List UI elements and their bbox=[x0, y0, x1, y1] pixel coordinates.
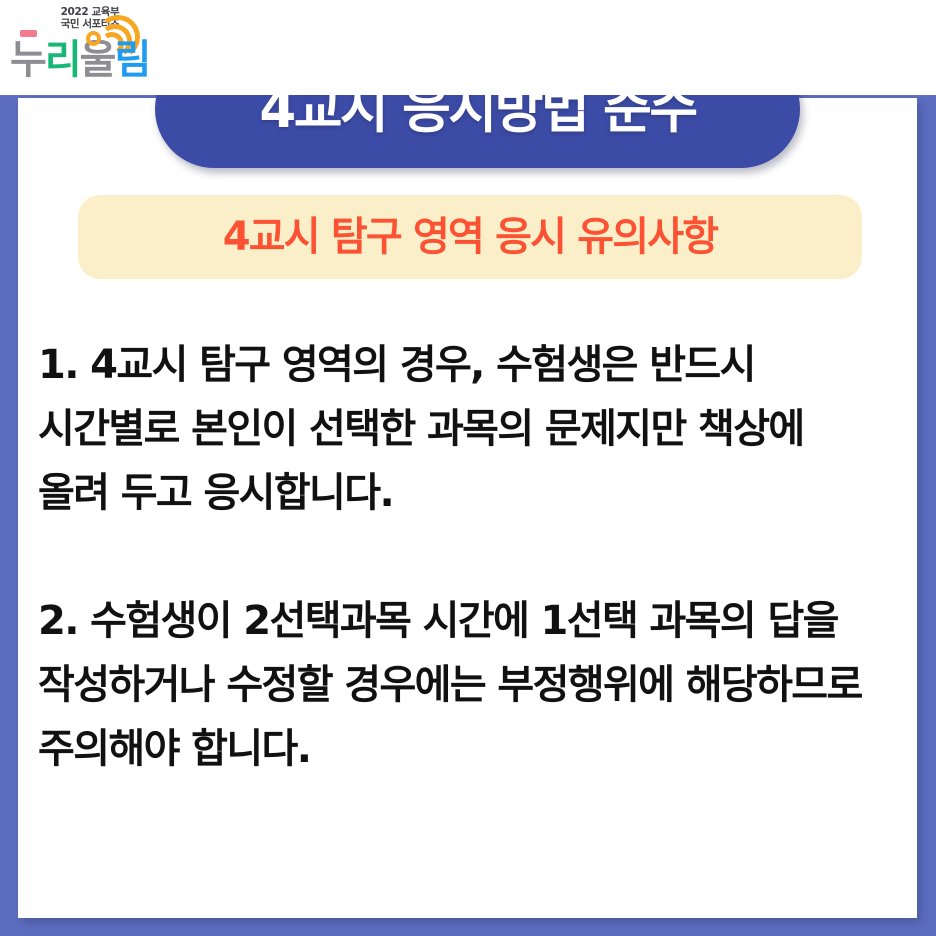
logo-pink-accent-icon bbox=[20, 30, 37, 37]
supporters-logo: 2022 교육부 국민 서포터즈 누리울림 bbox=[8, 4, 158, 90]
logo-orange-dot-icon bbox=[86, 31, 101, 46]
logo-syllable-4: 림 bbox=[114, 32, 149, 88]
info-card-canvas: 2022 교육부 국민 서포터즈 누리울림 4교시 응시방법 준수 4교시 탐구… bbox=[0, 0, 936, 936]
logo-syllable-1: 누 bbox=[10, 32, 45, 88]
body-paragraph-2: 2. 수험생이 2선택과목 시간에 1선택 과목의 답을 작성하거나 수정할 경… bbox=[38, 589, 868, 781]
logo-strip: 2022 교육부 국민 서포터즈 누리울림 bbox=[0, 0, 936, 95]
subtitle-text: 4교시 탐구 영역 응시 유의사항 bbox=[223, 217, 718, 257]
logo-wordmark: 누리울림 bbox=[10, 32, 156, 88]
body-paragraph-1: 1. 4교시 탐구 영역의 경우, 수험생은 반드시 시간별로 본인이 선택한 … bbox=[38, 333, 868, 525]
logo-syllable-2: 리 bbox=[45, 32, 80, 88]
body-content: 1. 4교시 탐구 영역의 경우, 수험생은 반드시 시간별로 본인이 선택한 … bbox=[38, 333, 868, 781]
subtitle-banner: 4교시 탐구 영역 응시 유의사항 bbox=[78, 195, 862, 279]
